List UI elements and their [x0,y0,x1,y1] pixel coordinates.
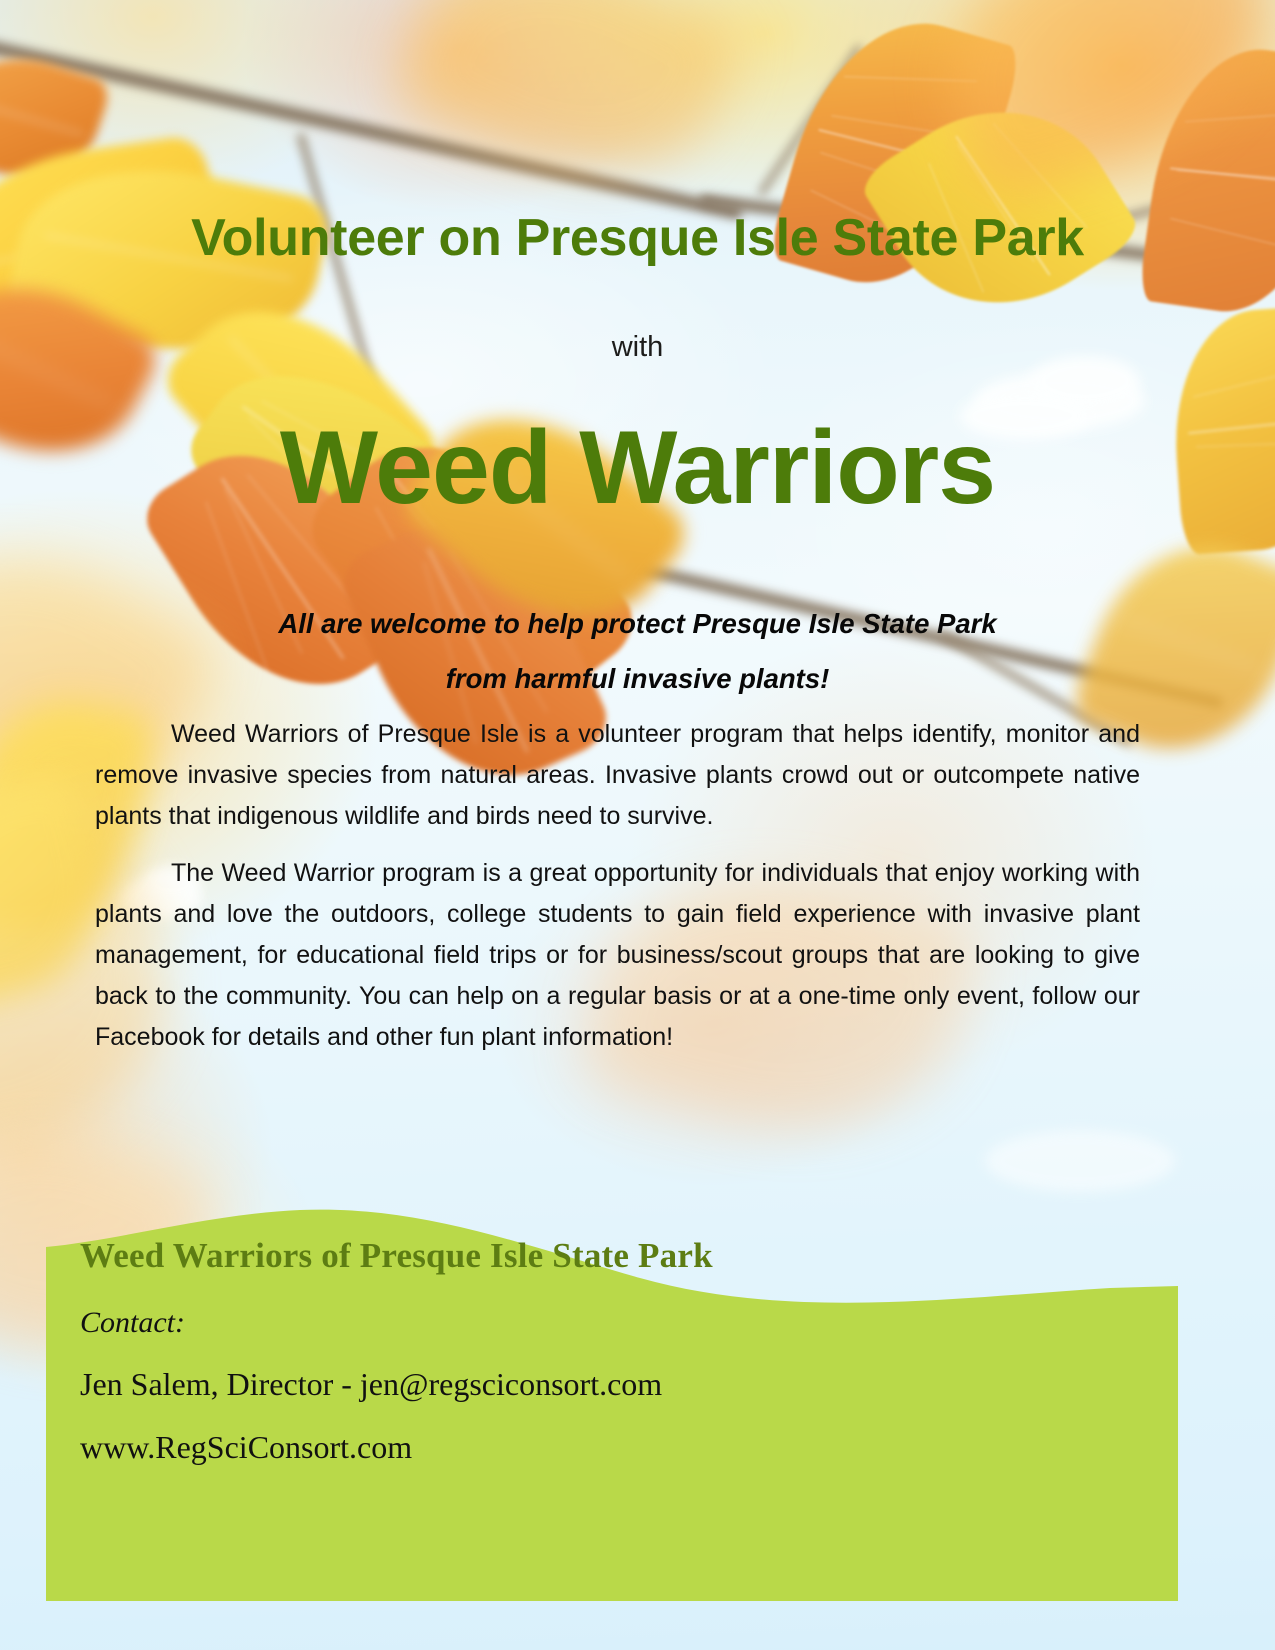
contact-website[interactable]: www.RegSciConsort.com [80,1429,1140,1466]
footer-organization-title: Weed Warriors of Presque Isle State Park [80,1236,1140,1276]
body-paragraph-1: Weed Warriors of Presque Isle is a volun… [95,714,1140,837]
body-paragraph-2: The Weed Warrior program is a great oppo… [95,853,1140,1058]
footer-contact-block: Weed Warriors of Presque Isle State Park… [80,1236,1140,1466]
contact-person-email[interactable]: Jen Salem, Director - jen@regsciconsort.… [80,1366,1140,1403]
flyer-poster: Volunteer on Presque Isle State Park wit… [0,0,1275,1650]
subheading-line-2: from harmful invasive plants! [0,651,1275,706]
poster-content: Volunteer on Presque Isle State Park wit… [0,0,1275,1650]
page-title: Weed Warriors [0,414,1275,523]
page-headline: Volunteer on Presque Isle State Park [0,208,1275,268]
contact-label: Contact: [80,1306,1140,1340]
connector-text: with [0,331,1275,364]
subheading: All are welcome to help protect Presque … [0,596,1275,706]
body-copy: Weed Warriors of Presque Isle is a volun… [95,714,1140,1058]
subheading-line-1: All are welcome to help protect Presque … [0,596,1275,651]
